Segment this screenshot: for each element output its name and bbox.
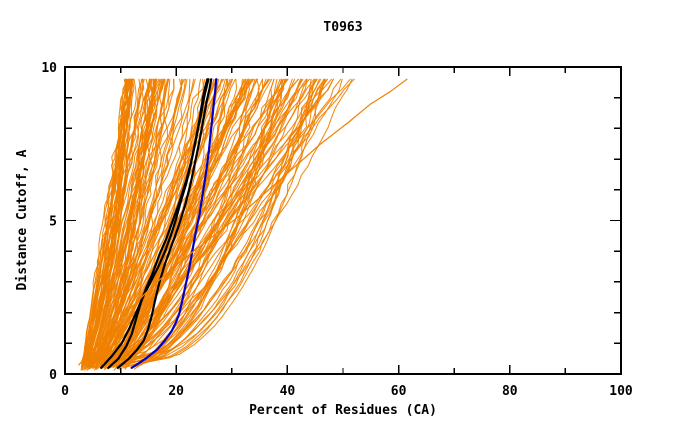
y-tick-label: 0 [49, 368, 57, 383]
y-tick-label: 10 [41, 61, 57, 76]
y-axis-label: Distance Cutoff, A [15, 149, 30, 290]
chart-title: T0963 [323, 20, 362, 35]
data-curves-layer [79, 79, 407, 370]
x-tick-label: 60 [391, 384, 407, 399]
y-tick-label: 5 [49, 215, 57, 230]
chart-figure: T0963 0204060801000510 Percent of Residu… [0, 0, 680, 440]
plot-svg: T0963 0204060801000510 Percent of Residu… [0, 0, 680, 440]
x-axis-label: Percent of Residues (CA) [249, 403, 437, 418]
x-tick-label: 20 [168, 384, 184, 399]
x-tick-label: 80 [502, 384, 518, 399]
x-tick-label: 100 [609, 384, 633, 399]
x-tick-label: 0 [61, 384, 69, 399]
x-tick-label: 40 [280, 384, 296, 399]
